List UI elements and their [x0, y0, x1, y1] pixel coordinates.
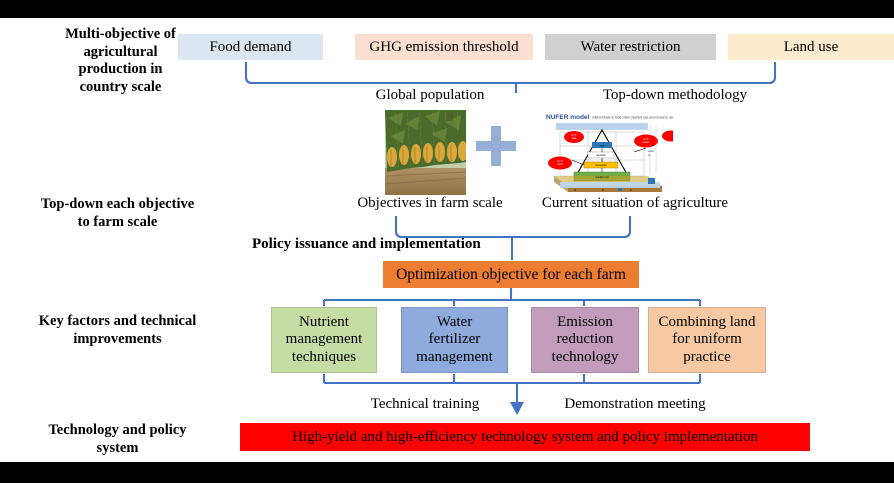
objective-label: Water restriction: [581, 39, 681, 56]
svg-text:household: household: [595, 164, 607, 167]
nufer-model-diagram: NUFER model nutrient flows in food chain…: [530, 110, 673, 192]
factor-box-emission-reduction-technology[interactable]: Emission reduction technology: [531, 307, 639, 373]
objectives-bracket: [246, 62, 775, 83]
factor-label-line: Emission: [552, 314, 619, 331]
objective-box-land-use[interactable]: Land use: [728, 34, 894, 60]
objective-label: GHG emission threshold: [369, 39, 518, 56]
maize-field-photo-art: [385, 110, 466, 195]
factor-label-line: techniques: [286, 349, 363, 366]
svg-text:crop: crop: [600, 145, 605, 148]
factor-label-line: reduction: [552, 331, 619, 348]
svg-text:K: K: [630, 188, 632, 192]
factor-box-nutrient-management[interactable]: Nutrient management techniques: [271, 307, 377, 373]
letterbox-top: [0, 0, 894, 18]
objective-box-water-restriction[interactable]: Water restriction: [545, 34, 716, 60]
optimization-objective-box[interactable]: Optimization objective for each farm: [383, 261, 639, 288]
svg-text:nutrient flows in food chain (: nutrient flows in food chain (nutrient u…: [592, 116, 673, 120]
plus-icon-glyph: [476, 126, 516, 166]
factor-label-line: Nutrient: [286, 314, 363, 331]
factor-label-line: Combining land: [658, 314, 755, 331]
factor-label: Water fertilizer management: [416, 314, 493, 366]
svg-text:N: N: [574, 188, 576, 192]
stage-label-farm-scale: Top-down each objective to farm scale: [10, 196, 225, 231]
nufer-model-art: NUFER model nutrient flows in food chain…: [530, 110, 673, 192]
objective-label: Food demand: [209, 39, 291, 56]
factor-label: Emission reduction technology: [552, 314, 619, 366]
factor-label-line: management: [286, 331, 363, 348]
policy-issuance-label: Policy issuance and implementation: [252, 236, 481, 253]
factor-label-line: Water: [416, 314, 493, 331]
stage-label-line: to farm scale: [10, 214, 225, 232]
factor-label-line: management: [416, 349, 493, 366]
result-arrow-head: [510, 402, 524, 415]
figure-canvas: Multi-objective of agricultural producti…: [0, 0, 894, 483]
factor-label-line: fertilizer: [416, 331, 493, 348]
objective-box-ghg-emission-threshold[interactable]: GHG emission threshold: [355, 34, 533, 60]
svg-text:air: air: [648, 153, 651, 157]
objective-label: Land use: [784, 39, 839, 56]
svg-text:livestock: livestock: [596, 154, 606, 157]
svg-text:P: P: [602, 188, 604, 192]
stage-label-line: system: [10, 440, 225, 458]
technical-training-label: Technical training: [345, 396, 505, 413]
result-banner[interactable]: High-yield and high-efficiency technolog…: [240, 423, 810, 451]
svg-text:loss: loss: [572, 136, 577, 140]
svg-text:reuse: reuse: [643, 140, 650, 144]
factor-label: Combining land for uniform practice: [658, 314, 755, 366]
factor-label-line: practice: [658, 349, 755, 366]
plus-icon: [476, 126, 516, 171]
stage-label-line: improvements: [10, 331, 225, 349]
stage-label-line: Technology and policy: [10, 422, 225, 440]
svg-text:water: water: [648, 149, 654, 153]
svg-text:cropland soil: cropland soil: [595, 176, 609, 179]
optimization-objective-label: Optimization objective for each farm: [396, 266, 626, 284]
objective-box-food-demand[interactable]: Food demand: [178, 34, 323, 60]
factor-box-water-fertilizer-management[interactable]: Water fertilizer management: [401, 307, 508, 373]
svg-text:NUFER model: NUFER model: [546, 114, 590, 121]
maize-field-photo: [385, 110, 466, 195]
stage-label-line: country scale: [18, 79, 223, 97]
stage-label-line: Key factors and technical: [10, 313, 225, 331]
svg-text:input: input: [557, 162, 563, 166]
factor-box-combining-land[interactable]: Combining land for uniform practice: [648, 307, 766, 373]
factor-label-line: technology: [552, 349, 619, 366]
factor-label: Nutrient management techniques: [286, 314, 363, 366]
current-situation-caption: Current situation of agriculture: [520, 195, 750, 212]
demonstration-meeting-label: Demonstration meeting: [535, 396, 735, 413]
top-down-methodology-title: Top-down methodology: [545, 87, 805, 104]
factor-label-line: for uniform: [658, 331, 755, 348]
global-population-title: Global population: [345, 87, 515, 104]
letterbox-bottom: [0, 462, 894, 483]
stage-label-line: Top-down each objective: [10, 196, 225, 214]
farm-scale-bracket: [396, 216, 630, 237]
stage-label-line: production in: [18, 61, 223, 79]
result-banner-label: High-yield and high-efficiency technolog…: [292, 429, 758, 446]
stage-label-key-factors: Key factors and technical improvements: [10, 313, 225, 348]
stage-label-tech-policy: Technology and policy system: [10, 422, 225, 457]
objectives-in-farm-scale-caption: Objectives in farm scale: [320, 195, 540, 212]
